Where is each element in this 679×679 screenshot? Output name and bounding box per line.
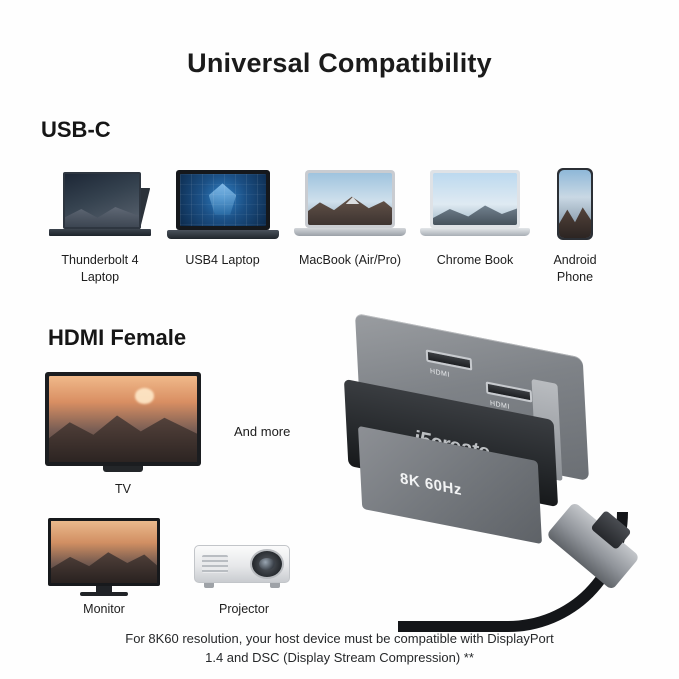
chromebook-icon [420, 168, 530, 244]
device-macbook: MacBook (Air/Pro) [285, 168, 415, 269]
caption-line-1: Thunderbolt 4 [61, 253, 138, 267]
device-caption: MacBook (Air/Pro) [283, 252, 418, 269]
device-chrome-book: Chrome Book [415, 168, 535, 269]
device-thunderbolt-4-laptop: Thunderbolt 4 Laptop [40, 168, 160, 286]
product-infographic: Universal Compatibility USB-C Thunderbol… [0, 0, 679, 679]
device-caption: Android Phone [535, 252, 615, 286]
usb-c-device-row: Thunderbolt 4 Laptop USB4 Laptop MacBook… [40, 168, 640, 288]
device-usb4-laptop: USB4 Laptop [160, 168, 285, 269]
projector-icon [190, 535, 298, 595]
device-caption: Chrome Book [415, 252, 535, 269]
monitor-caption: Monitor [48, 602, 160, 616]
product-photo-usb-c-hub: HDMI HDMI j5create 8K 60Hz [338, 326, 679, 656]
projector-caption: Projector [186, 602, 302, 616]
footnote-line-2: 1.4 and DSC (Display Stream Compression)… [0, 649, 679, 668]
caption-line-2: Laptop [81, 270, 119, 284]
device-caption: Thunderbolt 4 Laptop [48, 252, 152, 286]
macbook-icon [294, 168, 406, 244]
usb4-laptop-icon [167, 168, 279, 244]
thunderbolt-4-laptop-icon [45, 168, 155, 244]
caption-line-2: Phone [557, 270, 593, 284]
footnote-line-1: For 8K60 resolution, your host device mu… [125, 631, 553, 646]
footnote: For 8K60 resolution, your host device mu… [0, 630, 679, 668]
monitor-icon [48, 518, 160, 596]
device-caption: USB4 Laptop [160, 252, 285, 269]
tv-icon [45, 372, 201, 472]
and-more-label: And more [234, 424, 290, 439]
device-android-phone: Android Phone [535, 168, 615, 286]
page-title: Universal Compatibility [0, 48, 679, 79]
tv-caption: TV [45, 482, 201, 496]
section-heading-usb-c: USB-C [41, 117, 111, 143]
android-phone-icon [553, 168, 597, 244]
section-heading-hdmi-female: HDMI Female [48, 325, 186, 351]
caption-line-1: Android [553, 253, 596, 267]
